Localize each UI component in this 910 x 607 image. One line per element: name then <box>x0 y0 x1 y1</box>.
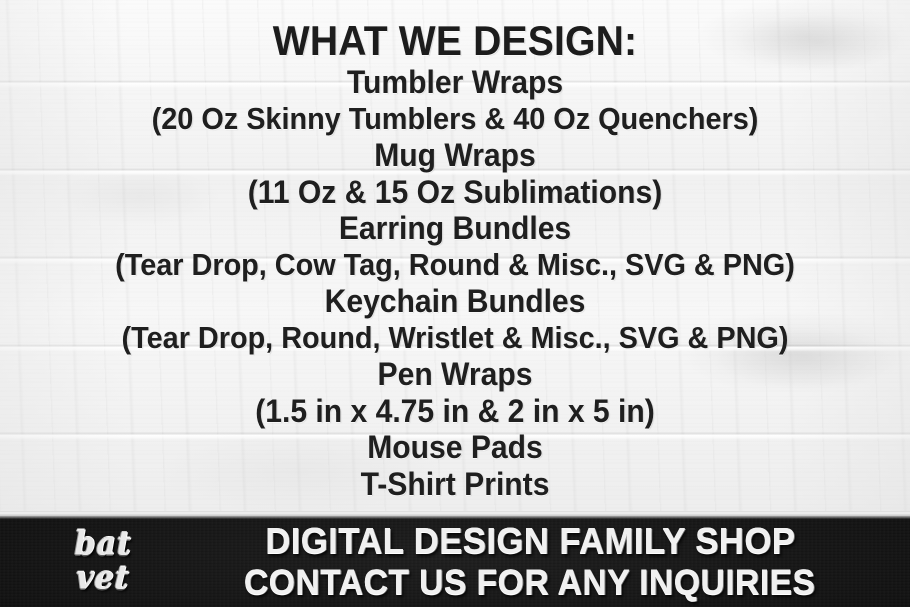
design-list-item: Mug Wraps <box>27 137 882 174</box>
poster-canvas: WHAT WE DESIGN: Tumbler Wraps(20 Oz Skin… <box>0 0 910 607</box>
design-list-item: Keychain Bundles <box>27 283 882 320</box>
design-list-item: (Tear Drop, Cow Tag, Round & Misc., SVG … <box>32 247 878 284</box>
design-list-item: Mouse Pads <box>27 429 882 466</box>
design-list-item: Earring Bundles <box>27 210 882 247</box>
design-list-item: (11 Oz & 15 Oz Sublimations) <box>27 174 882 211</box>
design-list-item: T-Shirt Prints <box>27 466 882 503</box>
design-list-item: (Tear Drop, Round, Wristlet & Misc., SVG… <box>32 320 878 357</box>
design-list-item: (20 Oz Skinny Tumblers & 40 Oz Quenchers… <box>32 101 878 138</box>
design-list-item: Tumbler Wraps <box>27 64 882 101</box>
shop-name: DIGITAL DESIGN FAMILY SHOP <box>265 520 795 562</box>
shop-logo: bat vet <box>48 521 158 603</box>
footer-banner-text: DIGITAL DESIGN FAMILY SHOP CONTACT US FO… <box>150 516 910 607</box>
page-title: WHAT WE DESIGN: <box>32 21 878 61</box>
design-list-block: WHAT WE DESIGN: Tumbler Wraps(20 Oz Skin… <box>0 0 910 521</box>
design-list-item: (1.5 in x 4.75 in & 2 in x 5 in) <box>27 393 882 430</box>
logo-word-bottom: vet <box>75 563 130 595</box>
design-list-item: Pen Wraps <box>27 356 882 393</box>
logo-word-top: bat <box>74 529 131 561</box>
contact-prompt: CONTACT US FOR ANY INQUIRIES <box>244 562 815 604</box>
design-list: Tumbler Wraps(20 Oz Skinny Tumblers & 40… <box>0 64 910 502</box>
